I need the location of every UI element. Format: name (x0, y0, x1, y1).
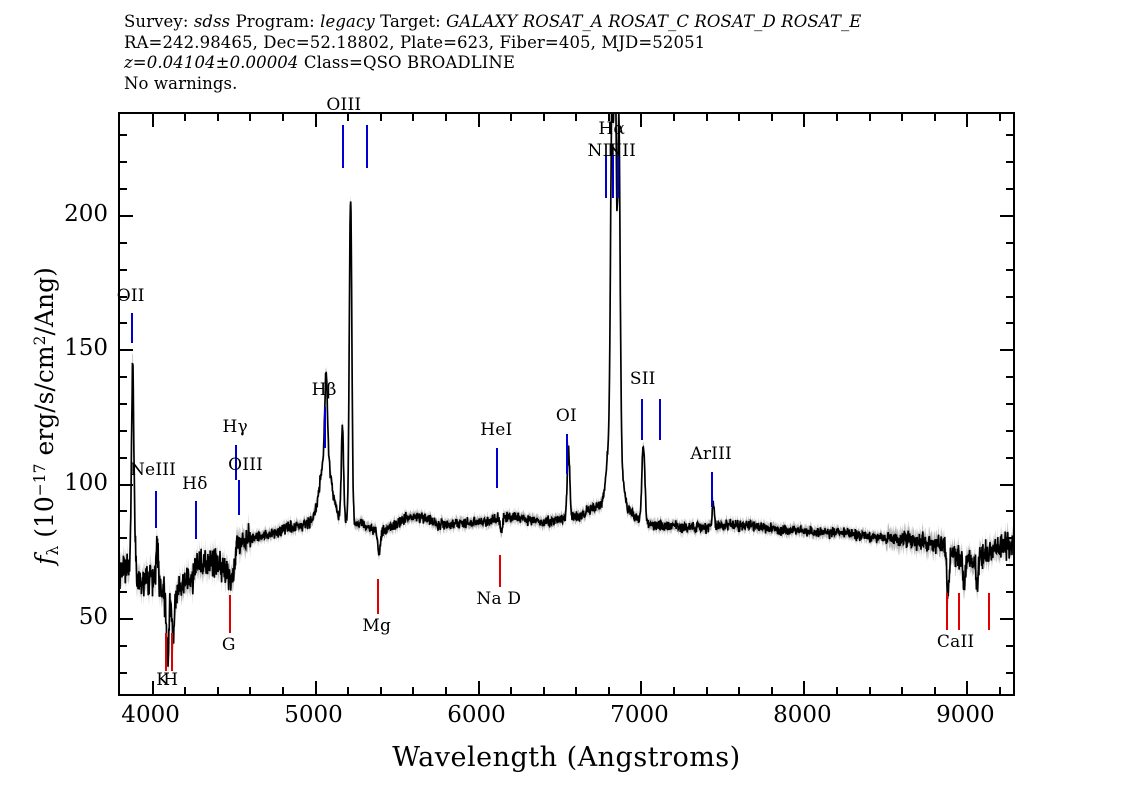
y-axis-tick-right (1000, 484, 1013, 486)
program-label: Program: (236, 12, 315, 31)
y-axis-tick-label: 200 (50, 201, 108, 227)
x-axis-tick-top (738, 114, 740, 121)
y-axis-tick (120, 349, 133, 351)
emission-line-marker (612, 155, 614, 198)
x-axis-tick-top (706, 114, 708, 121)
y-axis-tick-label: 50 (50, 604, 108, 630)
survey-value: sdss (194, 12, 230, 31)
y-axis-tick (120, 403, 127, 405)
y-axis-tick-right (1006, 161, 1013, 163)
x-axis-tick-top (901, 114, 903, 121)
emission-line-marker (605, 155, 607, 198)
emission-line-marker (496, 448, 498, 488)
x-axis-tick (673, 687, 675, 694)
redshift-value: z=0.04104±0.00004 (124, 53, 299, 72)
x-axis-tick (217, 687, 219, 694)
emission-line-marker (711, 472, 713, 507)
x-axis-tick-top (445, 114, 447, 121)
x-axis-tick (478, 681, 480, 694)
emission-line-marker (238, 480, 240, 515)
x-axis-tick-top (999, 114, 1001, 121)
x-axis-tick (836, 687, 838, 694)
x-axis-tick (249, 687, 251, 694)
x-axis-tick (184, 687, 186, 694)
x-axis-tick-top (575, 114, 577, 121)
y-units-mid: erg/s/cm (30, 345, 59, 463)
absorption-line-label: CaII (937, 632, 974, 652)
y-axis-tick (120, 645, 127, 647)
x-axis-tick (869, 687, 871, 694)
emission-line-label: OIII (326, 95, 361, 115)
x-axis-tick-top (543, 114, 545, 121)
x-axis-tick (966, 681, 968, 694)
x-axis-tick (934, 687, 936, 694)
x-axis-tick-top (869, 114, 871, 121)
x-axis-tick-top (217, 114, 219, 121)
x-axis-tick-top (771, 114, 773, 121)
x-axis-tick (380, 687, 382, 694)
y-axis-tick (120, 188, 127, 190)
emission-line-marker (155, 491, 157, 529)
absorption-line-label: G (222, 635, 236, 655)
y-units-exponent: −17 (31, 463, 49, 496)
absorption-line-marker (171, 633, 173, 671)
x-axis-tick (901, 687, 903, 694)
header-line-survey: Survey: sdss Program: legacy Target: GAL… (124, 12, 1024, 33)
y-axis-tick-right (1006, 134, 1013, 136)
x-axis-tick (640, 681, 642, 694)
x-axis-tick-top (282, 114, 284, 121)
y-axis-tick-label: 100 (50, 470, 108, 496)
x-axis-tick (706, 687, 708, 694)
y-axis-tick (120, 484, 133, 486)
y-axis-tick-right (1000, 349, 1013, 351)
absorption-line-marker (229, 595, 231, 633)
emission-line-label: ArIII (690, 444, 732, 464)
x-axis-tick-label: 7000 (610, 702, 669, 728)
y-axis-tick-right (1006, 296, 1013, 298)
y-axis-tick-right (1006, 510, 1013, 512)
spectrum-trace (120, 114, 1013, 694)
y-axis-tick-right (1006, 645, 1013, 647)
x-axis-tick (347, 687, 349, 694)
x-axis-tick-top (249, 114, 251, 121)
y-axis-tick (120, 618, 133, 620)
x-axis-tick (510, 687, 512, 694)
absorption-line-marker (958, 593, 960, 631)
x-axis-tick (282, 687, 284, 694)
spectrum-canvas (120, 114, 1013, 694)
x-axis-tick (445, 687, 447, 694)
y-axis-tick-right (1006, 376, 1013, 378)
emission-line-label: HeI (480, 420, 512, 440)
y-units-tail: /Ang) (30, 267, 59, 335)
y-axis-tick (120, 242, 127, 244)
y-axis-tick (120, 161, 127, 163)
emission-line-label: Hβ (312, 380, 337, 400)
x-axis-tick-label: 9000 (936, 702, 995, 728)
y-axis-tick-label: 150 (50, 335, 108, 361)
x-axis-tick (608, 687, 610, 694)
spectrum-header: Survey: sdss Program: legacy Target: GAL… (124, 12, 1024, 94)
x-axis-tick-top (966, 114, 968, 127)
y-axis-tick (120, 430, 127, 432)
class-value: Class=QSO BROADLINE (304, 53, 515, 72)
x-axis-tick-top (640, 114, 642, 127)
emission-line-marker (131, 313, 133, 343)
x-axis-tick-top (412, 114, 414, 121)
y-axis-tick-right (1000, 618, 1013, 620)
emission-line-marker (617, 155, 619, 198)
y-axis-tick (120, 510, 127, 512)
y-axis-title: fλ (10−17 erg/s/cm2/Ang) (30, 156, 62, 676)
emission-line-label: Hδ (182, 474, 207, 494)
emission-line-marker (342, 125, 344, 168)
flux-symbol: f (30, 556, 59, 565)
x-axis-tick (738, 687, 740, 694)
y-axis-tick (120, 672, 127, 674)
x-axis-tick (315, 681, 317, 694)
x-axis-tick-top (347, 114, 349, 121)
emission-line-label: Hα (598, 119, 625, 139)
absorption-line-marker (377, 579, 379, 614)
header-line-coords: RA=242.98465, Dec=52.18802, Plate=623, F… (124, 33, 1024, 54)
y-axis-tick-right (1000, 215, 1013, 217)
flux-subscript: λ (44, 546, 62, 556)
y-axis-tick-right (1006, 430, 1013, 432)
y-axis-tick (120, 457, 127, 459)
x-axis-tick (575, 687, 577, 694)
header-line-warnings: No warnings. (124, 74, 1024, 95)
x-axis-tick-top (315, 114, 317, 127)
y-axis-tick-right (1006, 591, 1013, 593)
x-axis-tick-top (478, 114, 480, 127)
x-axis-tick-top (184, 114, 186, 121)
emission-line-label: OI (556, 406, 577, 426)
x-axis-tick-label: 5000 (284, 702, 343, 728)
emission-line-marker (641, 399, 643, 439)
y-axis-tick-right (1006, 403, 1013, 405)
y-axis-tick (120, 564, 127, 566)
emission-line-label: Hγ (222, 417, 247, 437)
y-axis-tick-right (1006, 564, 1013, 566)
absorption-line-marker (165, 633, 167, 671)
x-axis-tick-top (803, 114, 805, 127)
emission-line-label: OII (117, 286, 145, 306)
y-axis-tick (120, 269, 127, 271)
y-axis-tick (120, 591, 127, 593)
absorption-line-label: Na D (476, 589, 521, 609)
x-axis-tick-label: 8000 (773, 702, 832, 728)
x-axis-tick-label: 6000 (447, 702, 506, 728)
emission-line-marker (659, 399, 661, 439)
emission-line-marker (195, 501, 197, 539)
y-units-open: (10 (30, 496, 59, 546)
header-line-redshift: z=0.04104±0.00004 Class=QSO BROADLINE (124, 53, 1024, 74)
y-axis-tick-right (1006, 188, 1013, 190)
x-axis-tick-top (934, 114, 936, 121)
emission-line-marker (366, 125, 368, 168)
target-label: Target: (380, 12, 441, 31)
x-axis-tick-top (510, 114, 512, 121)
x-axis-tick (412, 687, 414, 694)
absorption-line-marker (946, 593, 948, 631)
x-axis-tick (803, 681, 805, 694)
target-value: GALAXY ROSAT_A ROSAT_C ROSAT_D ROSAT_E (446, 12, 861, 31)
emission-line-label: OIII (228, 455, 263, 475)
absorption-line-marker (499, 555, 501, 587)
y-axis-tick (120, 537, 127, 539)
y-axis-tick-right (1006, 322, 1013, 324)
x-axis-tick-top (380, 114, 382, 121)
x-axis-tick-top (836, 114, 838, 121)
emission-line-marker (324, 407, 326, 447)
program-value: legacy (320, 12, 375, 31)
y-axis-tick-right (1006, 672, 1013, 674)
x-axis-tick-label: 4000 (121, 702, 180, 728)
x-axis-tick (543, 687, 545, 694)
absorption-line-marker (988, 593, 990, 631)
emission-line-label: NII (607, 141, 636, 161)
x-axis-tick (152, 681, 154, 694)
emission-line-label: SII (630, 369, 656, 389)
absorption-line-label: Mg (362, 616, 391, 636)
y-axis-tick (120, 322, 127, 324)
y-axis-tick (120, 376, 127, 378)
x-axis-tick (771, 687, 773, 694)
x-axis-tick-top (673, 114, 675, 121)
y-axis-tick-right (1006, 269, 1013, 271)
y-units-square: 2 (31, 336, 49, 346)
y-axis-tick (120, 134, 127, 136)
y-axis-tick-right (1006, 457, 1013, 459)
y-axis-tick (120, 215, 133, 217)
emission-line-label: NeIII (130, 460, 176, 480)
flux-line (120, 114, 1013, 667)
absorption-line-label: H (163, 670, 178, 690)
emission-line-marker (566, 434, 568, 474)
y-axis-tick-right (1006, 537, 1013, 539)
survey-label: Survey: (124, 12, 188, 31)
error-band (120, 114, 1013, 677)
x-axis-tick (999, 687, 1001, 694)
spectrum-plot (118, 112, 1015, 696)
x-axis-title: Wavelength (Angstroms) (118, 742, 1015, 773)
y-axis-tick-right (1006, 242, 1013, 244)
x-axis-tick-top (152, 114, 154, 127)
